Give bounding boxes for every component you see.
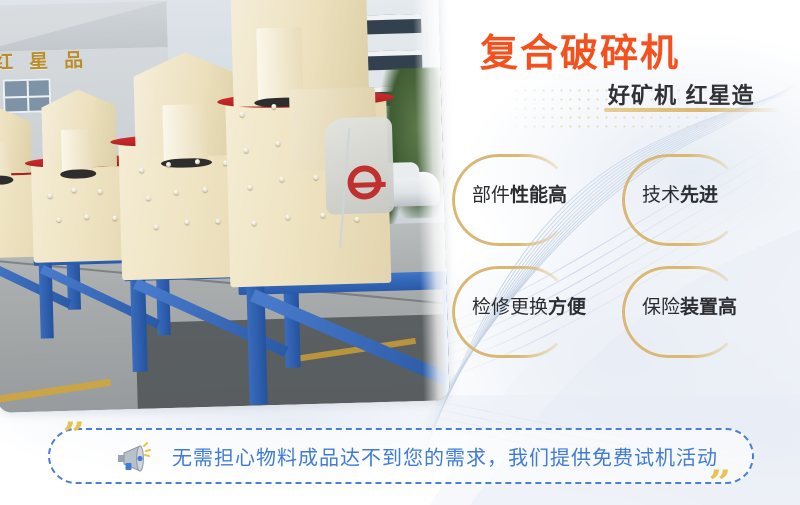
product-photo: 红 星 品 [0,0,450,413]
promo-callout[interactable]: ” 无需担心物料成品达不到您的需求，我们提供免费试机活动 ” [48,428,754,484]
subtitle-underline [604,108,780,112]
quote-close-icon: ” [709,466,731,500]
feature-label-3: 检修更换方便 [472,292,586,319]
promo-text: 无需担心物料成品达不到您的需求，我们提供免费试机活动 [172,442,718,471]
feature-label-4-light: 保险 [642,296,680,318]
feature-list: 部件性能高 技术先进 检修更换方便 保险装置高 [444,146,800,366]
page-title: 复合破碎机 [480,22,680,77]
megaphone-icon [114,442,154,474]
feature-item-4[interactable]: 保险装置高 [614,258,792,366]
feature-item-3[interactable]: 检修更换方便 [444,258,622,366]
feature-label-1-light: 部件 [472,184,510,206]
quote-open-icon: ” [63,418,85,452]
feature-label-2-light: 技术 [642,184,680,206]
wall-sign-char-3: 品 [64,45,84,73]
wall-sign-char-1: 红 [0,47,13,75]
feature-item-1[interactable]: 部件性能高 [444,146,622,254]
feature-label-2: 技术先进 [642,180,718,207]
wall-sign-char-2: 星 [29,46,49,74]
feature-label-3-bold: 方便 [548,296,586,318]
feature-label-1-bold: 性能高 [510,184,567,206]
feature-label-3-light: 检修更换 [472,296,548,318]
feature-label-1: 部件性能高 [472,180,567,207]
feature-label-4-bold: 装置高 [680,296,737,318]
feature-item-2[interactable]: 技术先进 [614,146,792,254]
page-subtitle: 好矿机 红星造 [608,78,755,110]
feature-label-4: 保险装置高 [642,292,737,319]
feature-label-2-bold: 先进 [680,184,718,206]
photo-stand-4 [238,271,450,405]
promo-banner-stage: 红 星 品 [0,0,800,505]
photo-wall-sign: 红 星 品 [0,44,114,73]
